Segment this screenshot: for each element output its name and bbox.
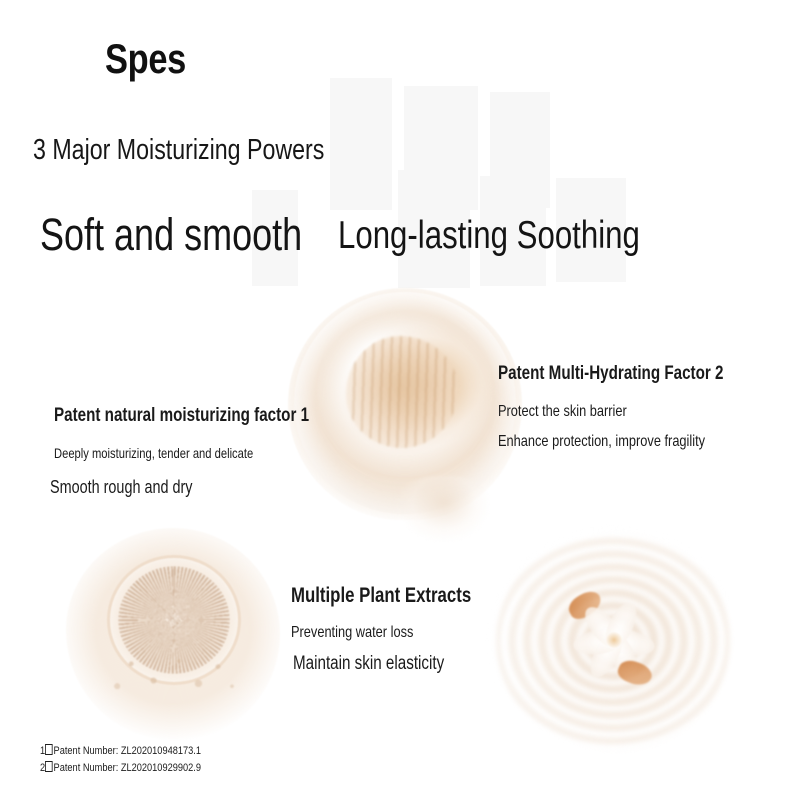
missing-glyph-icon xyxy=(45,761,53,772)
radial-burst-core xyxy=(118,566,230,674)
feature-2-line-1: Protect the skin barrier xyxy=(498,404,627,420)
gel-droplet-amber-core-image xyxy=(288,288,522,520)
headline-secondary: Long-lasting Soothing xyxy=(338,216,640,255)
flower-petal-tan xyxy=(565,587,605,622)
droplet-base-spread xyxy=(398,476,490,554)
droplet-amber-core xyxy=(346,336,458,448)
feature-3-title: Multiple Plant Extracts xyxy=(291,585,471,606)
background-band xyxy=(404,86,478,210)
feature-1-title: Patent natural moisturizing factor 1 xyxy=(54,406,309,425)
brand-logo: Spes xyxy=(105,38,186,80)
gel-droplet-radial-burst-image xyxy=(66,528,280,740)
product-detail-page: Spes 3 Major Moisturizing Powers Soft an… xyxy=(0,0,800,800)
flower-petal xyxy=(578,601,629,655)
feature-3-line-2: Maintain skin elasticity xyxy=(293,654,444,673)
feature-3-line-1: Preventing water loss xyxy=(291,625,413,641)
feature-1-line-1: Deeply moisturizing, tender and delicate xyxy=(54,446,253,460)
cream-swirl-flower-image xyxy=(486,524,740,760)
footnote-2: 2Patent Number: ZL202010929902.9 xyxy=(40,761,201,774)
flower-petal xyxy=(599,598,642,653)
footnote-1: 1Patent Number: ZL202010948173.1 xyxy=(40,744,201,757)
feature-1-line-2: Smooth rough and dry xyxy=(50,478,193,496)
missing-glyph-icon xyxy=(45,744,53,755)
background-band xyxy=(330,78,392,210)
flower-petal xyxy=(603,627,656,659)
flower-petal xyxy=(572,627,625,658)
headline-primary: Soft and smooth xyxy=(40,212,302,257)
flower-center xyxy=(606,632,622,648)
droplet-rim-highlight xyxy=(294,292,516,514)
headline-subtitle: 3 Major Moisturizing Powers xyxy=(33,136,324,165)
flower-petal xyxy=(599,626,644,681)
flower-icon xyxy=(560,588,668,692)
footnote-1-text: Patent Number: ZL202010948173.1 xyxy=(54,745,201,757)
burst-outer-ring xyxy=(110,558,238,682)
feature-2-line-2: Enhance protection, improve fragility xyxy=(498,434,705,450)
feature-2-title: Patent Multi-Hydrating Factor 2 xyxy=(498,364,723,383)
droplet-bubbles xyxy=(106,640,246,710)
cream-swirl xyxy=(496,532,730,750)
footnote-2-text: Patent Number: ZL202010929902.9 xyxy=(54,762,201,774)
background-band xyxy=(490,92,550,208)
flower-petal-tan xyxy=(615,656,655,689)
flower-petal xyxy=(584,626,629,681)
